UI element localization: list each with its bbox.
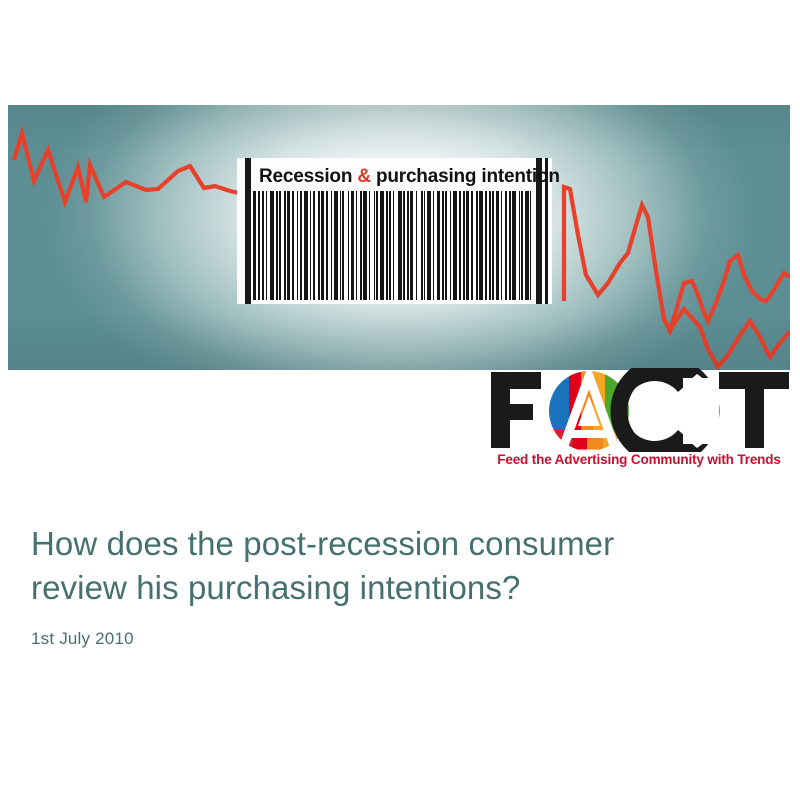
barcode-bar (300, 191, 302, 300)
trend-line-right-tail (668, 309, 790, 367)
barcode-headline-suffix: purchasing intention (371, 166, 560, 187)
barcode-bar (496, 191, 499, 300)
barcode-bar (284, 191, 286, 300)
barcode-bar (501, 191, 502, 300)
barcode-bar (279, 191, 281, 300)
barcode-bar (416, 191, 417, 300)
barcode-bar (492, 191, 494, 300)
barcode-bar (466, 191, 469, 300)
page-date: 1st July 2010 (31, 628, 761, 650)
title-block: How does the post-recession consumer rev… (31, 522, 761, 650)
barcode-bar (433, 191, 434, 300)
barcode-bar (287, 191, 290, 300)
barcode-bar (297, 191, 298, 300)
barcode-bar (380, 191, 383, 300)
fact-logo-mark (487, 368, 792, 452)
barcode-bar (389, 191, 391, 300)
barcode-bar (262, 191, 264, 300)
barcode-bar (360, 191, 362, 300)
barcode-bar (489, 191, 490, 300)
logo-letter-f (491, 372, 541, 448)
barcode-bar (266, 191, 267, 300)
barcode-bar (453, 191, 457, 300)
barcode-bar (253, 191, 256, 300)
barcode-bar (321, 191, 324, 300)
barcode-bar (485, 191, 486, 300)
barcode-bar (424, 191, 425, 300)
barcode-bar (326, 191, 328, 300)
barcode-bar (525, 191, 528, 300)
barcode-bar (442, 191, 444, 300)
logo-letter-t (719, 372, 789, 448)
barcode-bar (258, 191, 259, 300)
barcode-bar (471, 191, 472, 300)
barcode-graphic: Recession & purchasing intention (237, 158, 552, 304)
barcode-bar (421, 191, 423, 300)
barcode-bar (348, 191, 349, 300)
barcode-bar (393, 191, 394, 300)
barcode-headline-ampersand: & (357, 166, 371, 187)
barcode-bar (270, 191, 274, 300)
fact-logo-tagline: Feed the Advertising Community with Tren… (489, 452, 789, 467)
barcode-bar (313, 191, 315, 300)
barcode-headline-prefix: Recession (259, 166, 357, 187)
barcode-bar (407, 191, 408, 300)
barcode-bar (403, 191, 405, 300)
page-title-line-2: review his purchasing intentions? (31, 566, 761, 610)
barcode-bar (340, 191, 341, 300)
barcode-bar (450, 191, 451, 300)
barcode-bar (521, 191, 523, 300)
barcode-bar (292, 191, 293, 300)
slide-root: Recession & purchasing intention (0, 0, 800, 800)
barcode-headline: Recession & purchasing intention (259, 162, 530, 192)
fact-logo: Feed the Advertising Community with Tren… (487, 368, 792, 480)
barcode-bar (386, 191, 387, 300)
barcode-bar (334, 191, 338, 300)
barcode-bar (479, 191, 483, 300)
barcode-bar (398, 191, 402, 300)
page-title: How does the post-recession consumer rev… (31, 522, 761, 610)
barcode-bar (331, 191, 332, 300)
barcode-bar (445, 191, 446, 300)
barcode-bar (376, 191, 378, 300)
barcode-bar (530, 191, 531, 300)
trend-line-right (564, 187, 790, 331)
barcode-bar (318, 191, 319, 300)
barcode-bar (512, 191, 516, 300)
barcode-guard-left (245, 158, 251, 304)
barcode-bar (369, 191, 370, 300)
barcode-bar (276, 191, 277, 300)
barcode-bar (505, 191, 507, 300)
barcode-bars (253, 191, 534, 300)
barcode-bar (304, 191, 308, 300)
barcode-bar (459, 191, 461, 300)
barcode-bar (519, 191, 520, 300)
page-title-line-1: How does the post-recession consumer (31, 522, 761, 566)
barcode-bar (310, 191, 311, 300)
barcode-bar (437, 191, 440, 300)
barcode-bar (342, 191, 344, 300)
barcode-bar (463, 191, 464, 300)
barcode-bar (374, 191, 375, 300)
barcode-bar (427, 191, 431, 300)
barcode-bar (410, 191, 413, 300)
barcode-bar (363, 191, 367, 300)
barcode-bar (476, 191, 478, 300)
barcode-bar (509, 191, 510, 300)
barcode-bar (351, 191, 354, 300)
barcode-bar (356, 191, 357, 300)
